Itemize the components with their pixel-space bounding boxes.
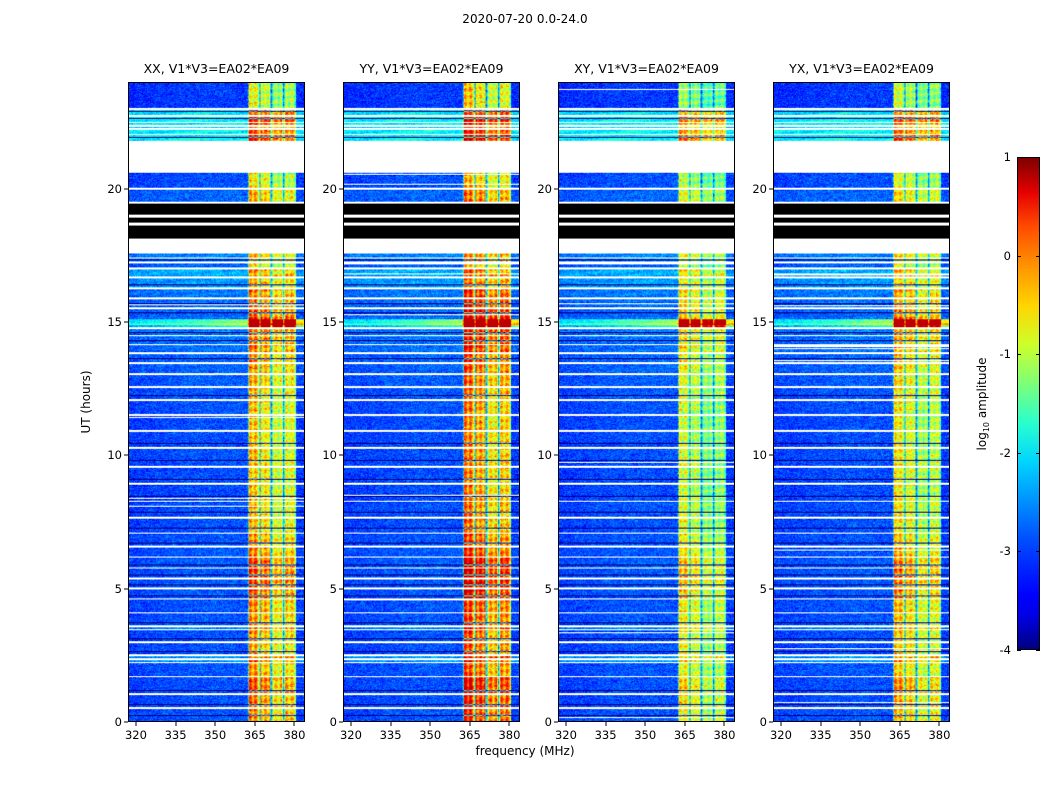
x-axis-label: frequency (MHz) [0,744,1050,758]
x-tick-label: 335 [595,722,617,742]
y-tick-label: 5 [545,582,558,596]
y-tick-label: 20 [752,182,773,196]
y-tick-label: 0 [545,715,558,729]
x-tick-label: 320 [555,722,577,742]
panel-title-yx: YX, V1*V3=EA02*EA09 [789,61,934,82]
y-tick-label: 20 [322,182,343,196]
y-tick-label: 20 [537,182,558,196]
colorbar-tick-mark [1017,354,1021,355]
spectrogram-image-xy [559,83,734,721]
panel-yx[interactable]: YX, V1*V3=EA02*EA09 32033535036538005101… [773,82,950,722]
axes-yy[interactable] [343,82,520,722]
y-tick-label: 15 [107,315,128,329]
panel-title-yy: YY, V1*V3=EA02*EA09 [360,61,504,82]
spectrogram-image-xx [129,83,304,721]
x-tick-label: 380 [928,722,950,742]
x-tick-label: 365 [244,722,266,742]
colorbar-label-subscript: 10 [982,422,991,432]
colorbar-tick-mark [1036,650,1040,651]
y-tick-label: 10 [752,448,773,462]
colorbar-gradient [1017,157,1040,650]
x-tick-label: 350 [204,722,226,742]
panel-yy[interactable]: YY, V1*V3=EA02*EA09 32033535036538005101… [343,82,520,722]
colorbar-tick-mark [1036,157,1040,158]
colorbar-tick-label: -4 [1000,643,1017,657]
colorbar-tick-mark [1036,256,1040,257]
y-tick-label: 0 [760,715,773,729]
colorbar-tick-label: 0 [1004,249,1017,263]
spectrogram-image-yy [344,83,519,721]
y-tick-label: 15 [322,315,343,329]
x-tick-label: 365 [459,722,481,742]
y-axis-label: UT (hours) [79,370,93,433]
panel-title-xx: XX, V1*V3=EA02*EA09 [144,61,290,82]
colorbar-label-text: log [975,432,989,450]
x-tick-label: 380 [713,722,735,742]
x-tick-label: 335 [810,722,832,742]
x-tick-label: 320 [340,722,362,742]
colorbar-tick-mark [1036,354,1040,355]
colorbar-tick-mark [1036,453,1040,454]
colorbar-tick-label: 1 [1004,150,1017,164]
y-tick-label: 0 [330,715,343,729]
y-tick-label: 15 [537,315,558,329]
colorbar-tick-mark [1017,551,1021,552]
panel-title-xy: XY, V1*V3=EA02*EA09 [574,61,719,82]
colorbar-tick-mark [1017,453,1021,454]
x-tick-label: 320 [770,722,792,742]
panel-xy[interactable]: XY, V1*V3=EA02*EA09 32033535036538005101… [558,82,735,722]
figure-canvas: 2020-07-20 0.0-24.0 XX, V1*V3=EA02*EA09 … [0,0,1050,800]
y-tick-label: 5 [115,582,128,596]
x-tick-label: 320 [125,722,147,742]
y-tick-label: 20 [107,182,128,196]
axes-xx[interactable] [128,82,305,722]
colorbar-label: log10 amplitude [975,358,991,451]
x-tick-label: 365 [674,722,696,742]
x-tick-label: 350 [849,722,871,742]
y-tick-label: 10 [322,448,343,462]
colorbar-tick-mark [1036,551,1040,552]
colorbar-tick-mark [1017,256,1021,257]
x-tick-label: 380 [283,722,305,742]
colorbar-tick-label: -1 [1000,347,1017,361]
x-tick-label: 350 [634,722,656,742]
y-tick-label: 5 [330,582,343,596]
spectrogram-image-yx [774,83,949,721]
x-tick-label: 365 [889,722,911,742]
y-tick-label: 10 [537,448,558,462]
x-tick-label: 335 [380,722,402,742]
x-tick-label: 350 [419,722,441,742]
colorbar-tick-mark [1017,650,1021,651]
y-tick-label: 5 [760,582,773,596]
colorbar-tick-label: -2 [1000,446,1017,460]
axes-yx[interactable] [773,82,950,722]
axes-xy[interactable] [558,82,735,722]
panel-xx[interactable]: XX, V1*V3=EA02*EA09 32033535036538005101… [128,82,305,722]
colorbar-tick-mark [1017,157,1021,158]
colorbar-label-tail: amplitude [975,358,989,422]
y-tick-label: 0 [115,715,128,729]
y-tick-label: 15 [752,315,773,329]
figure-suptitle: 2020-07-20 0.0-24.0 [0,12,1050,26]
colorbar-tick-label: -3 [1000,544,1017,558]
y-tick-label: 10 [107,448,128,462]
colorbar[interactable]: -4-3-2-101 [1017,157,1040,650]
x-tick-label: 380 [498,722,520,742]
x-tick-label: 335 [165,722,187,742]
